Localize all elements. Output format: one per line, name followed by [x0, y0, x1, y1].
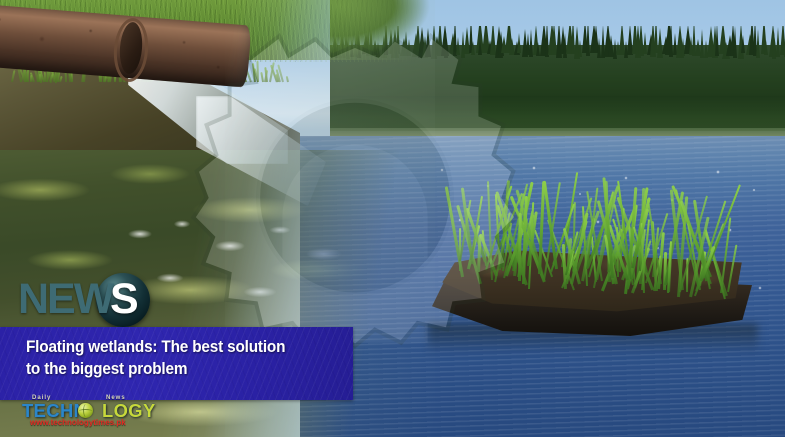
raft-grasses — [418, 186, 768, 326]
headline-line-1: Floating wetlands: The best solution — [26, 336, 324, 358]
news-badge: NEW S — [18, 272, 158, 328]
globe-icon — [78, 403, 93, 418]
headline-line-2: to the biggest problem — [26, 358, 324, 380]
news-badge-accent: S — [110, 278, 137, 321]
grass-tuft — [59, 76, 63, 82]
grass-tuft — [260, 72, 264, 82]
raft-grass-blade — [703, 184, 741, 278]
floating-wetland-raft — [418, 186, 768, 364]
headline-text: Floating wetlands: The best solution to … — [26, 336, 324, 380]
conifer-tree — [756, 29, 760, 58]
grass-tuft — [39, 74, 41, 82]
conifer-tree — [444, 32, 448, 58]
grass-tuft — [251, 63, 255, 82]
grass-tuft — [11, 70, 15, 82]
grass-tuft — [256, 61, 259, 82]
technology-times-logo[interactable]: Daily News TECHNOLOGY www.technologytime… — [22, 396, 152, 430]
conifer-tree — [456, 37, 460, 55]
conifer-tree — [764, 40, 768, 55]
grass-tuft — [30, 75, 32, 82]
conifer-tree — [517, 33, 521, 53]
conifer-tree — [741, 35, 745, 53]
logo-website-url: www.technologytimes.pk — [30, 418, 126, 427]
conifer-tree — [471, 41, 475, 55]
conifer-tree — [733, 26, 737, 58]
raft-grass-blade — [538, 181, 545, 274]
news-badge-primary: NEW — [18, 278, 112, 321]
grass-tuft — [285, 76, 288, 82]
conifer-tree — [715, 26, 719, 56]
headline-banner: Floating wetlands: The best solution to … — [0, 327, 353, 400]
news-thumbnail-image: NEW S Floating wetlands: The best soluti… — [0, 0, 785, 437]
raft-grass-blade — [727, 245, 738, 293]
